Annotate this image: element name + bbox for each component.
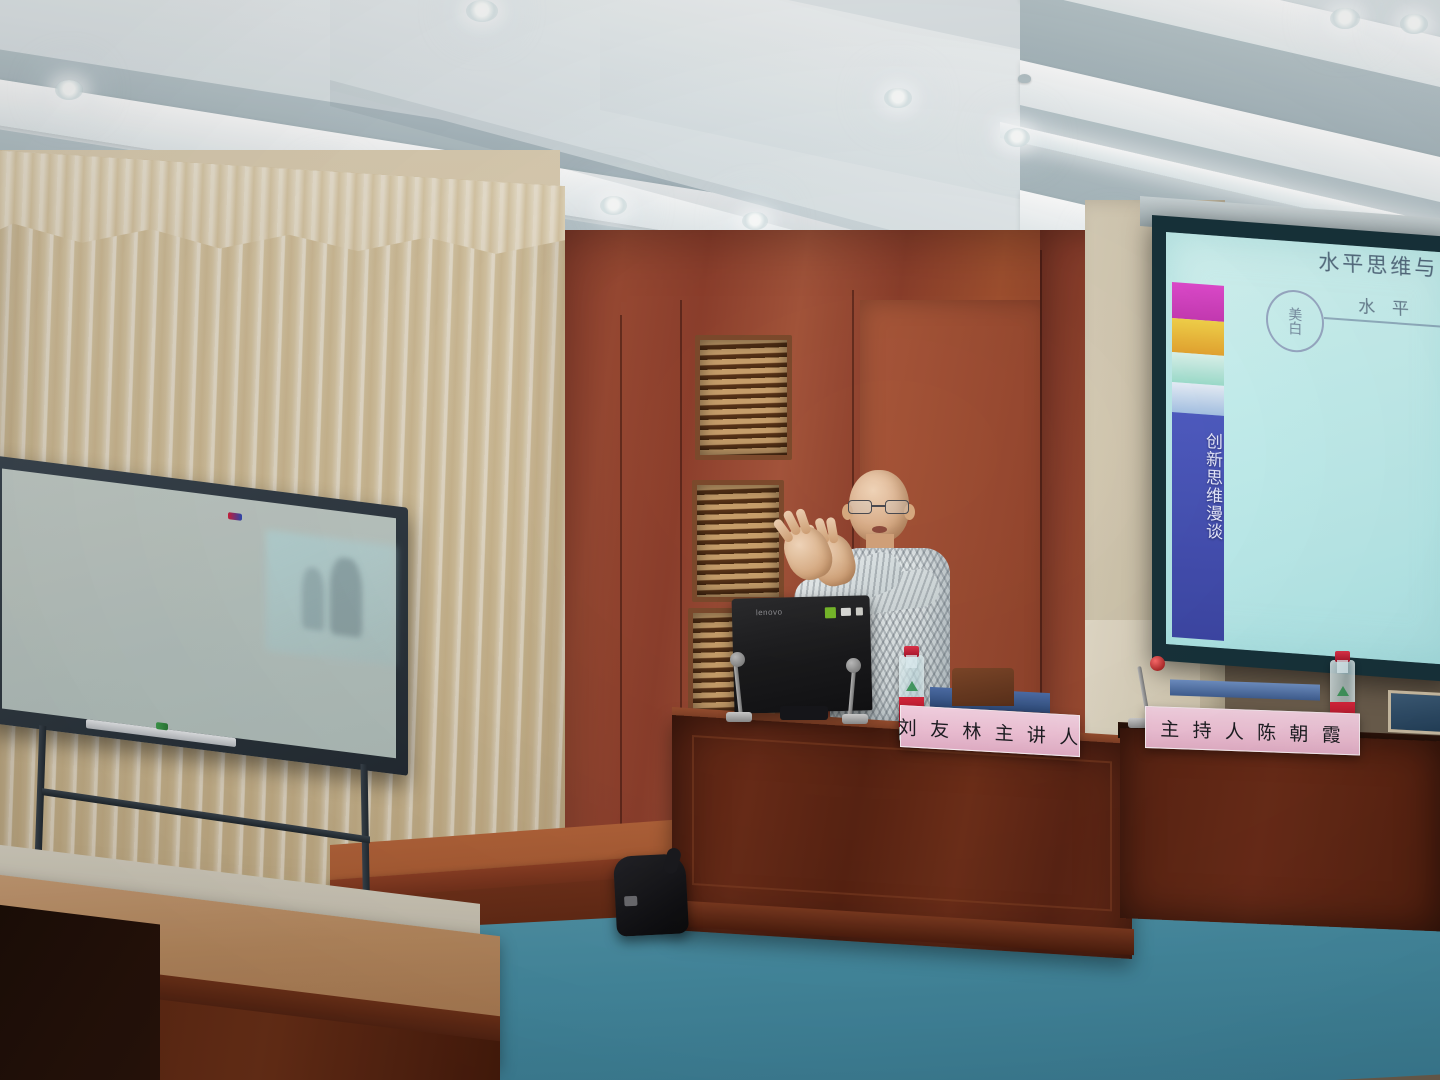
nameplate-host: 主 持 人 陈 朝 霞 xyxy=(1145,706,1360,756)
panel-table-monitor[interactable] xyxy=(1388,690,1440,735)
bottle-logo-triangle xyxy=(906,681,918,691)
sprinkler-head xyxy=(1018,74,1031,83)
backpack-buckle xyxy=(624,896,638,907)
ceiling-downlight xyxy=(742,212,768,230)
whiteboard-frame xyxy=(0,455,408,776)
monitor-sticker-green xyxy=(825,607,836,618)
monitor-stand xyxy=(780,706,828,720)
whiteboard[interactable] xyxy=(0,455,420,809)
bottle-neck xyxy=(906,655,917,668)
podium-panel-inset xyxy=(692,735,1112,911)
monitor-sticker-white-2 xyxy=(856,607,863,615)
ceiling-downlight xyxy=(884,88,912,108)
bottle-logo-triangle xyxy=(1337,686,1349,696)
backpack-on-floor[interactable] xyxy=(613,853,689,937)
monitor-brand-label: lenovo xyxy=(756,607,783,617)
nameplate-speaker-text: 刘 友 林 主 讲 人 xyxy=(898,712,1082,749)
whiteboard-surface[interactable] xyxy=(2,469,396,759)
wood-seam xyxy=(680,300,682,730)
monitor-sticker-white-1 xyxy=(841,608,851,616)
whiteboard-reflection-figure-2 xyxy=(302,566,324,631)
ceiling-downlight xyxy=(1330,8,1360,29)
lecture-hall-photo: 创新思维漫谈 水平思维与 水 平 美白 xyxy=(0,0,1440,1080)
speaker-mouth xyxy=(872,526,887,533)
slide-circle-label: 美白 xyxy=(1288,307,1303,336)
panel-table xyxy=(1120,728,1440,931)
ceiling-downlight xyxy=(466,0,498,22)
ceiling-downlight xyxy=(1004,128,1030,147)
whiteboard-marker-green[interactable] xyxy=(156,722,168,731)
ceiling-downlight xyxy=(600,196,627,215)
whiteboard-reflection-figure xyxy=(330,556,362,638)
bottle-neck xyxy=(1337,660,1348,673)
wall-vent-middle xyxy=(692,480,784,602)
ceiling-downlight xyxy=(1400,14,1428,34)
chair-back-behind-podium xyxy=(952,668,1014,706)
wall-vent-upper xyxy=(695,335,792,460)
nameplate-host-text: 主 持 人 陈 朝 霞 xyxy=(1160,714,1344,747)
slide-sidebar-text: 创新思维漫谈 xyxy=(1180,430,1222,541)
ceiling-downlight xyxy=(55,80,83,100)
wood-seam xyxy=(620,315,622,875)
speaker-glasses xyxy=(848,500,910,515)
foreground-desk-shadow-side xyxy=(0,900,160,1080)
